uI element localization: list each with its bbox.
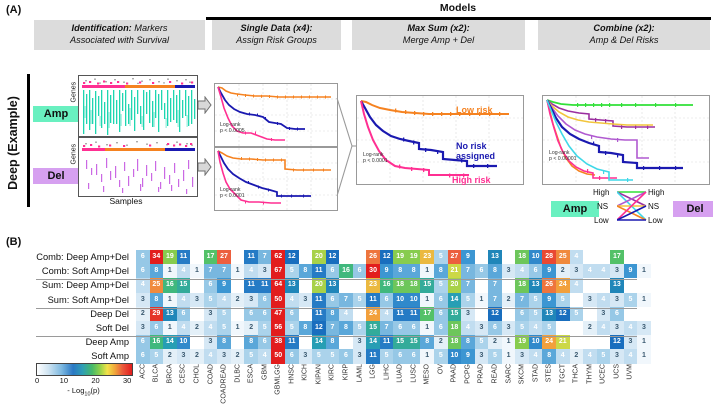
heatmap-cell[interactable]: 25 [150, 278, 164, 292]
heatmap-cell[interactable]: 19 [515, 335, 529, 349]
heatmap-cell[interactable] [597, 335, 611, 349]
heatmap-cell[interactable]: 8 [299, 321, 313, 335]
heatmap-cell[interactable]: 12 [326, 250, 340, 264]
heatmap-cell[interactable]: 17 [420, 307, 434, 321]
heatmap-cell[interactable]: 8 [461, 335, 475, 349]
heatmap-cell[interactable]: 4 [217, 293, 231, 307]
heatmap-cell[interactable]: 20 [312, 278, 326, 292]
heatmap-cell[interactable]: 7 [258, 250, 272, 264]
heatmap-cell[interactable]: 3 [204, 335, 218, 349]
heatmap-cell[interactable]: 8 [393, 264, 407, 278]
heatmap-cell[interactable]: 6 [258, 293, 272, 307]
heatmap-cell[interactable] [190, 307, 204, 321]
heatmap-cell[interactable]: 6 [407, 321, 421, 335]
heatmap-cell[interactable]: 4 [461, 321, 475, 335]
heatmap-cell[interactable]: 16 [380, 278, 394, 292]
heatmap-cell[interactable]: 15 [177, 278, 191, 292]
heatmap-cell[interactable]: 18 [407, 278, 421, 292]
heatmap-cell[interactable]: 25 [556, 250, 570, 264]
heatmap-cell[interactable]: 7 [339, 293, 353, 307]
heatmap-cell[interactable]: 18 [515, 250, 529, 264]
heatmap-cell[interactable]: 11 [312, 293, 326, 307]
heatmap-cell[interactable]: 3 [570, 264, 584, 278]
heatmap-cell[interactable]: 6 [326, 293, 340, 307]
heatmap-cell[interactable]: 2 [434, 335, 448, 349]
heatmap-cell[interactable]: 7 [326, 321, 340, 335]
heatmap-cell[interactable]: 4 [556, 349, 570, 363]
heatmap-cell[interactable]: 1 [163, 321, 177, 335]
heatmap-cell[interactable]: 3 [515, 349, 529, 363]
heatmap-cell[interactable]: 6 [244, 307, 258, 321]
heatmap-cell[interactable]: 2 [136, 307, 150, 321]
heatmap-cell[interactable]: 4 [583, 349, 597, 363]
heatmap-cell[interactable]: 5 [244, 349, 258, 363]
heatmap-cell[interactable]: 19 [163, 250, 177, 264]
heatmap-cell[interactable]: 1 [475, 293, 489, 307]
heatmap-cell[interactable]: 1 [637, 264, 651, 278]
heatmap-cell[interactable]: 5 [529, 293, 543, 307]
heatmap-cell[interactable]: 14 [448, 293, 462, 307]
heatmap-cell[interactable]: 5 [461, 293, 475, 307]
heatmap-cell[interactable] [299, 307, 313, 321]
heatmap-cell[interactable]: 16 [339, 264, 353, 278]
heatmap-cell[interactable]: 3 [461, 307, 475, 321]
heatmap-cell[interactable]: 3 [353, 349, 367, 363]
heatmap-cell[interactable]: 4 [177, 293, 191, 307]
heatmap-cell[interactable]: 13 [610, 278, 624, 292]
heatmap-cell[interactable] [299, 250, 313, 264]
heatmap-cell[interactable]: 38 [271, 335, 285, 349]
heatmap-cell[interactable]: 3 [299, 293, 313, 307]
heatmap-cell[interactable]: 29 [150, 307, 164, 321]
heatmap-cell[interactable]: 16 [150, 335, 164, 349]
heatmap-cell[interactable]: 11 [285, 335, 299, 349]
heatmap-cell[interactable]: 3 [217, 349, 231, 363]
heatmap-cell[interactable]: 6 [258, 335, 272, 349]
heatmap-cell[interactable] [231, 250, 245, 264]
heatmap-cell[interactable]: 8 [326, 307, 340, 321]
heatmap-cell[interactable]: 13 [542, 307, 556, 321]
heatmap-cell[interactable]: 20 [448, 278, 462, 292]
heatmap-cell[interactable]: 27 [448, 250, 462, 264]
heatmap-cell[interactable] [475, 250, 489, 264]
heatmap-cell[interactable]: 14 [163, 335, 177, 349]
heatmap-cell[interactable]: 24 [542, 335, 556, 349]
heatmap-cell[interactable]: 23 [420, 250, 434, 264]
heatmap-cell[interactable]: 3 [475, 349, 489, 363]
heatmap-cell[interactable]: 12 [556, 307, 570, 321]
heatmap-cell[interactable] [353, 307, 367, 321]
heatmap-cell[interactable] [339, 250, 353, 264]
heatmap-cell[interactable]: 12 [312, 321, 326, 335]
heatmap-cell[interactable]: 3 [190, 293, 204, 307]
heatmap-cell[interactable]: 8 [488, 264, 502, 278]
heatmap-cell[interactable]: 2 [556, 264, 570, 278]
heatmap-cell[interactable]: 5 [570, 307, 584, 321]
heatmap-cell[interactable]: 8 [150, 264, 164, 278]
heatmap-cell[interactable]: 8 [326, 335, 340, 349]
heatmap-cell[interactable]: 26 [542, 278, 556, 292]
heatmap-cell[interactable] [583, 278, 597, 292]
heatmap-cell[interactable]: 12 [285, 250, 299, 264]
heatmap-cell[interactable] [597, 250, 611, 264]
heatmap-cell[interactable]: 3 [475, 321, 489, 335]
heatmap-cell[interactable]: 11 [393, 307, 407, 321]
heatmap-cell[interactable]: 3 [597, 307, 611, 321]
heatmap-cell[interactable]: 11 [380, 335, 394, 349]
heatmap-cell[interactable]: 6 [136, 264, 150, 278]
heatmap-cell[interactable]: 3 [502, 321, 516, 335]
heatmap-cell[interactable]: 6 [258, 307, 272, 321]
heatmap-cell[interactable]: 3 [353, 335, 367, 349]
heatmap-cell[interactable] [231, 335, 245, 349]
heatmap-cell[interactable]: 4 [515, 264, 529, 278]
heatmap-cell[interactable]: 5 [556, 293, 570, 307]
heatmap-cell[interactable]: 1 [502, 349, 516, 363]
heatmap-cell[interactable]: 6 [515, 307, 529, 321]
heatmap-cell[interactable]: 3 [610, 349, 624, 363]
heatmap-cell[interactable]: 6 [380, 293, 394, 307]
heatmap-cell[interactable]: 1 [637, 293, 651, 307]
heatmap-cell[interactable]: 2 [190, 349, 204, 363]
heatmap-cell[interactable]: 5 [285, 321, 299, 335]
heatmap-cell[interactable]: 11 [244, 278, 258, 292]
heatmap-cell[interactable]: 6 [326, 264, 340, 278]
heatmap-cell[interactable]: 5 [217, 321, 231, 335]
heatmap-cell[interactable]: 3 [637, 321, 651, 335]
heatmap-cell[interactable]: 1 [420, 264, 434, 278]
heatmap-cell[interactable]: 11 [366, 349, 380, 363]
heatmap-cell[interactable]: 6 [529, 264, 543, 278]
heatmap-cell[interactable] [624, 250, 638, 264]
heatmap-cell[interactable]: 4 [529, 321, 543, 335]
heatmap-cell[interactable] [583, 307, 597, 321]
heatmap-cell[interactable]: 4 [177, 264, 191, 278]
heatmap-cell[interactable]: 5 [434, 278, 448, 292]
heatmap-cell[interactable]: 6 [434, 321, 448, 335]
heatmap-cell[interactable]: 18 [393, 278, 407, 292]
heatmap-cell[interactable]: 62 [271, 250, 285, 264]
heatmap-cell[interactable]: 2 [231, 349, 245, 363]
heatmap-cell[interactable] [570, 293, 584, 307]
heatmap-cell[interactable]: 24 [556, 278, 570, 292]
heatmap-cell[interactable]: 4 [204, 349, 218, 363]
heatmap-cell[interactable]: 5 [353, 293, 367, 307]
heatmap-cell[interactable]: 13 [163, 307, 177, 321]
heatmap-cell[interactable]: 8 [244, 335, 258, 349]
heatmap-cell[interactable]: 9 [461, 349, 475, 363]
heatmap-cell[interactable]: 4 [583, 264, 597, 278]
heatmap-cell[interactable]: 6 [393, 321, 407, 335]
heatmap-cell[interactable]: 8 [407, 264, 421, 278]
heatmap-cell[interactable]: 3 [610, 264, 624, 278]
heatmap-cell[interactable]: 1 [163, 264, 177, 278]
heatmap-cell[interactable]: 3 [502, 264, 516, 278]
heatmap-cell[interactable]: 5 [204, 293, 218, 307]
heatmap-cell[interactable]: 11 [177, 250, 191, 264]
heatmap-cell[interactable]: 2 [190, 321, 204, 335]
heatmap-cell[interactable]: 47 [271, 307, 285, 321]
heatmap-cell[interactable]: 3 [136, 293, 150, 307]
heatmap-cell[interactable]: 11 [244, 250, 258, 264]
heatmap-cell[interactable]: 50 [271, 349, 285, 363]
heatmap-cell[interactable]: 1 [231, 264, 245, 278]
heatmap-cell[interactable]: 4 [285, 293, 299, 307]
heatmap-cell[interactable]: 9 [217, 278, 231, 292]
heatmap-cell[interactable]: 7 [461, 278, 475, 292]
heatmap-cell[interactable]: 3 [624, 335, 638, 349]
heatmap-cell[interactable]: 8 [542, 349, 556, 363]
heatmap-cell[interactable]: 3 [299, 349, 313, 363]
heatmap-cell[interactable]: 5 [529, 307, 543, 321]
heatmap-cell[interactable]: 4 [597, 321, 611, 335]
heatmap-cell[interactable] [190, 250, 204, 264]
heatmap-cell[interactable] [231, 307, 245, 321]
heatmap-cell[interactable]: 3 [177, 349, 191, 363]
heatmap-cell[interactable]: 4 [136, 278, 150, 292]
heatmap-cell[interactable]: 1 [190, 264, 204, 278]
heatmap-cell[interactable]: 8 [339, 321, 353, 335]
heatmap-cell[interactable]: 1 [420, 293, 434, 307]
heatmap-cell[interactable]: 6 [136, 250, 150, 264]
heatmap-cell[interactable] [570, 321, 584, 335]
heatmap-cell[interactable]: 10 [177, 335, 191, 349]
heatmap-cell[interactable] [231, 278, 245, 292]
heatmap-cell[interactable] [475, 278, 489, 292]
heatmap-cell[interactable]: 1 [231, 321, 245, 335]
heatmap-cell[interactable]: 4 [339, 307, 353, 321]
heatmap-cell[interactable] [624, 307, 638, 321]
heatmap-cell[interactable]: 2 [163, 349, 177, 363]
heatmap-cell[interactable]: 4 [380, 307, 394, 321]
heatmap-cell[interactable]: 5 [542, 321, 556, 335]
heatmap-cell[interactable]: 2 [231, 293, 245, 307]
heatmap-cell[interactable]: 7 [461, 264, 475, 278]
heatmap-cell[interactable]: 6 [285, 349, 299, 363]
heatmap-cell[interactable]: 3 [244, 293, 258, 307]
heatmap-cell[interactable]: 23 [366, 278, 380, 292]
heatmap-cell[interactable]: 4 [204, 321, 218, 335]
heatmap-cell[interactable]: 9 [624, 264, 638, 278]
heatmap-cell[interactable]: 6 [339, 349, 353, 363]
heatmap-cell[interactable] [583, 335, 597, 349]
heatmap-cell[interactable]: 9 [461, 250, 475, 264]
heatmap-cell[interactable]: 11 [312, 307, 326, 321]
heatmap-cell[interactable]: 12 [610, 335, 624, 349]
heatmap-cell[interactable]: 10 [529, 250, 543, 264]
heatmap-cell[interactable]: 1 [420, 321, 434, 335]
heatmap-cell[interactable]: 5 [434, 250, 448, 264]
heatmap-cell[interactable]: 5 [434, 349, 448, 363]
heatmap-cell[interactable]: 9 [542, 293, 556, 307]
heatmap-cell[interactable] [570, 335, 584, 349]
heatmap-cell[interactable]: 4 [529, 349, 543, 363]
heatmap-cell[interactable]: 2 [244, 321, 258, 335]
heatmap-cell[interactable]: 6 [393, 349, 407, 363]
heatmap-cell[interactable]: 4 [244, 264, 258, 278]
heatmap-cell[interactable]: 4 [570, 250, 584, 264]
heatmap-cell[interactable]: 26 [366, 250, 380, 264]
heatmap-cell[interactable] [597, 278, 611, 292]
heatmap-cell[interactable]: 6 [285, 307, 299, 321]
heatmap-cell[interactable]: 8 [299, 264, 313, 278]
heatmap-cell[interactable] [556, 321, 570, 335]
heatmap-cell[interactable]: 2 [570, 349, 584, 363]
heatmap-cell[interactable]: 18 [448, 321, 462, 335]
heatmap-cell[interactable]: 10 [448, 349, 462, 363]
heatmap-cell[interactable]: 64 [271, 278, 285, 292]
heatmap-cell[interactable] [502, 307, 516, 321]
heatmap-cell[interactable]: 12 [380, 250, 394, 264]
heatmap-cell[interactable] [190, 278, 204, 292]
heatmap-cell[interactable]: 2 [502, 293, 516, 307]
heatmap-cell[interactable] [339, 278, 353, 292]
heatmap-cell[interactable]: 7 [515, 293, 529, 307]
heatmap-cell[interactable]: 6 [150, 321, 164, 335]
heatmap-cell[interactable]: 15 [407, 335, 421, 349]
heatmap-cell[interactable]: 6 [488, 321, 502, 335]
heatmap-cell[interactable]: 8 [434, 264, 448, 278]
heatmap-cell[interactable]: 11 [312, 264, 326, 278]
heatmap-cell[interactable] [353, 250, 367, 264]
heatmap-cell[interactable]: 8 [217, 335, 231, 349]
heatmap-cell[interactable]: 13 [326, 278, 340, 292]
heatmap-cell[interactable]: 8 [420, 335, 434, 349]
heatmap-cell[interactable]: 6 [136, 349, 150, 363]
heatmap-cell[interactable]: 10 [393, 293, 407, 307]
heatmap-cell[interactable]: 3 [610, 293, 624, 307]
heatmap-cell[interactable]: 13 [488, 250, 502, 264]
heatmap-cell[interactable]: 34 [150, 250, 164, 264]
heatmap-cell[interactable]: 7 [488, 293, 502, 307]
heatmap-cell[interactable]: 6 [204, 278, 218, 292]
heatmap-cell[interactable]: 6 [177, 307, 191, 321]
heatmap-cell[interactable]: 4 [597, 264, 611, 278]
heatmap-cell[interactable]: 6 [407, 349, 421, 363]
heatmap-cell[interactable]: 1 [502, 335, 516, 349]
heatmap-cell[interactable]: 11 [407, 307, 421, 321]
heatmap-cell[interactable]: 5 [597, 349, 611, 363]
heatmap-cell[interactable]: 12 [488, 307, 502, 321]
heatmap-cell[interactable]: 27 [217, 250, 231, 264]
heatmap-cell[interactable] [583, 250, 597, 264]
heatmap-cell[interactable]: 3 [204, 307, 218, 321]
heatmap-cell[interactable]: 56 [271, 321, 285, 335]
heatmap-cell[interactable]: 13 [285, 278, 299, 292]
heatmap-cell[interactable]: 3 [258, 264, 272, 278]
heatmap-cell[interactable]: 4 [258, 349, 272, 363]
heatmap-cell[interactable]: 1 [420, 349, 434, 363]
heatmap-cell[interactable] [475, 307, 489, 321]
heatmap-cell[interactable]: 6 [475, 264, 489, 278]
heatmap-cell[interactable]: 7 [217, 264, 231, 278]
heatmap-cell[interactable]: 20 [312, 250, 326, 264]
heatmap-cell[interactable]: 11 [258, 278, 272, 292]
heatmap-cell[interactable]: 6 [353, 264, 367, 278]
heatmap-cell[interactable]: 19 [393, 250, 407, 264]
heatmap-cell[interactable]: 5 [258, 321, 272, 335]
heatmap-cell[interactable]: 15 [448, 307, 462, 321]
heatmap-cell[interactable]: 24 [366, 307, 380, 321]
heatmap-cell[interactable]: 6 [434, 293, 448, 307]
heatmap-cell[interactable]: 2 [488, 335, 502, 349]
heatmap-cell[interactable]: 5 [326, 349, 340, 363]
heatmap-cell[interactable]: 15 [420, 278, 434, 292]
heatmap-cell[interactable] [624, 278, 638, 292]
heatmap-cell[interactable] [299, 278, 313, 292]
heatmap-cell[interactable]: 67 [271, 264, 285, 278]
heatmap-cell[interactable]: 7 [488, 278, 502, 292]
heatmap-cell[interactable] [299, 335, 313, 349]
heatmap-cell[interactable]: 10 [529, 335, 543, 349]
heatmap-cell[interactable]: 6 [136, 335, 150, 349]
heatmap-cell[interactable]: 21 [556, 335, 570, 349]
heatmap-cell[interactable]: 14 [366, 335, 380, 349]
heatmap-cell[interactable]: 3 [610, 321, 624, 335]
heatmap-cell[interactable]: 28 [542, 250, 556, 264]
heatmap-cell[interactable]: 3 [583, 293, 597, 307]
heatmap-cell[interactable]: 4 [597, 293, 611, 307]
heatmap-cell[interactable]: 11 [366, 293, 380, 307]
heatmap-cell[interactable]: 5 [488, 349, 502, 363]
heatmap-cell[interactable]: 4 [570, 278, 584, 292]
heatmap-cell[interactable]: 6 [434, 307, 448, 321]
heatmap-cell[interactable]: 15 [393, 335, 407, 349]
heatmap-cell[interactable]: 1 [637, 349, 651, 363]
heatmap-cell[interactable] [190, 335, 204, 349]
heatmap-cell[interactable]: 13 [529, 278, 543, 292]
heatmap-cell[interactable]: 3 [136, 321, 150, 335]
heatmap-cell[interactable]: 5 [353, 321, 367, 335]
heatmap-cell[interactable]: 4 [177, 321, 191, 335]
heatmap-cell[interactable] [502, 278, 516, 292]
heatmap-cell[interactable] [353, 278, 367, 292]
heatmap-cell[interactable]: 17 [204, 250, 218, 264]
heatmap-cell[interactable]: 5 [150, 349, 164, 363]
heatmap-cell[interactable]: 5 [285, 264, 299, 278]
heatmap-cell[interactable]: 2 [583, 321, 597, 335]
heatmap-cell[interactable]: 18 [515, 278, 529, 292]
heatmap-cell[interactable]: 18 [448, 335, 462, 349]
heatmap-cell[interactable]: 7 [204, 264, 218, 278]
heatmap-cell[interactable]: 21 [448, 264, 462, 278]
heatmap-cell[interactable]: 5 [624, 293, 638, 307]
heatmap-cell[interactable]: 16 [163, 278, 177, 292]
heatmap-cell[interactable]: 8 [150, 293, 164, 307]
heatmap-cell[interactable]: 4 [624, 321, 638, 335]
heatmap-cell[interactable]: 15 [366, 321, 380, 335]
heatmap-cell[interactable]: 50 [271, 293, 285, 307]
heatmap-cell[interactable] [502, 250, 516, 264]
heatmap-cell[interactable]: 30 [366, 264, 380, 278]
heatmap-cell[interactable]: 10 [407, 293, 421, 307]
heatmap-cell[interactable]: 19 [407, 250, 421, 264]
heatmap-cell[interactable]: 4 [624, 349, 638, 363]
heatmap-cell[interactable]: 9 [380, 264, 394, 278]
heatmap-cell[interactable]: 14 [312, 335, 326, 349]
heatmap-cell[interactable]: 1 [637, 335, 651, 349]
heatmap-cell[interactable]: 7 [380, 321, 394, 335]
heatmap-cell[interactable]: 9 [542, 264, 556, 278]
heatmap-cell[interactable] [339, 335, 353, 349]
heatmap-cell[interactable]: 17 [610, 250, 624, 264]
heatmap-cell[interactable]: 5 [217, 307, 231, 321]
heatmap-cell[interactable]: 5 [312, 349, 326, 363]
heatmap-cell[interactable]: 5 [380, 349, 394, 363]
heatmap-cell[interactable]: 5 [515, 321, 529, 335]
heatmap-cell[interactable]: 6 [610, 307, 624, 321]
heatmap-cell[interactable]: 1 [163, 293, 177, 307]
